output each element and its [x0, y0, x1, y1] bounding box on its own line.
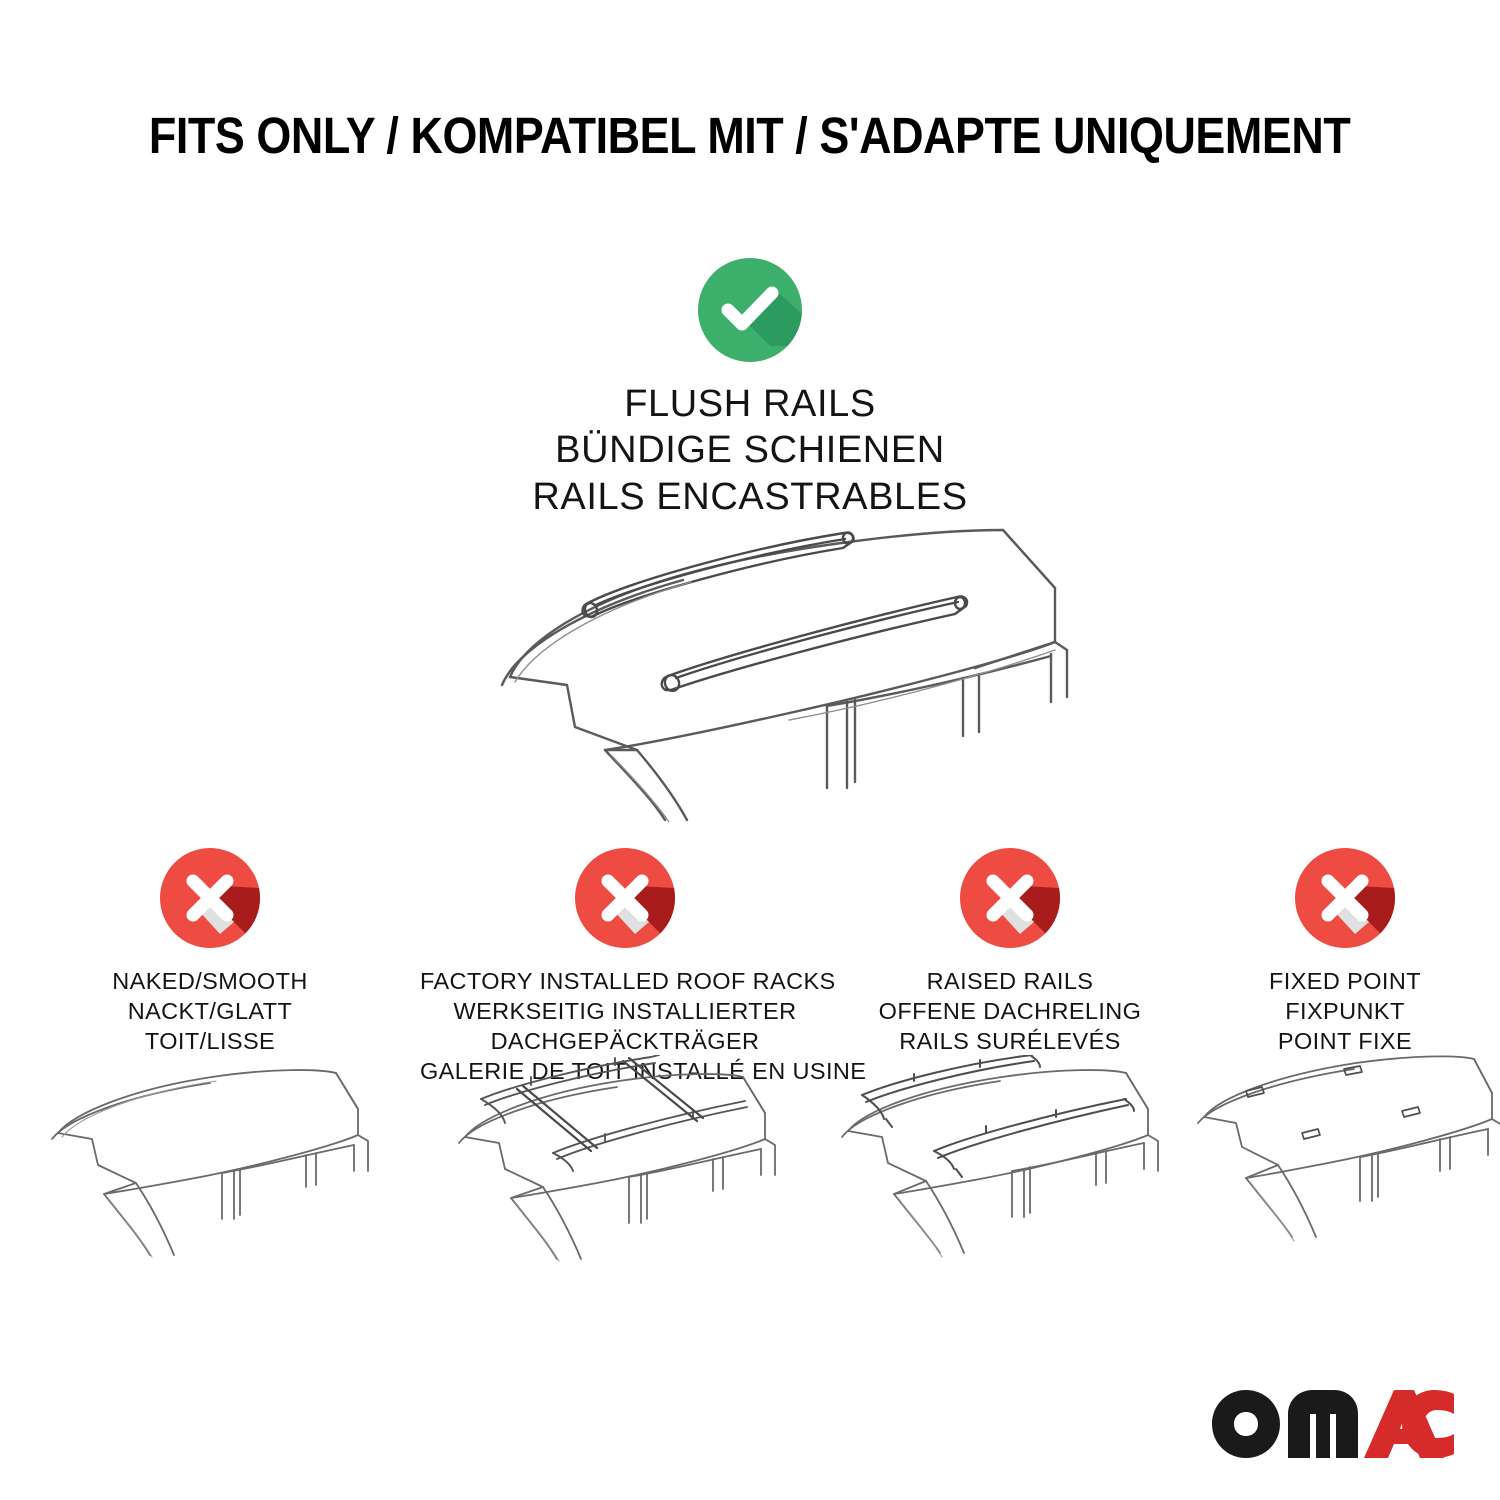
compatible-label-line-en: FLUSH RAILS: [0, 381, 1500, 427]
compatible-label-line-de: BÜNDIGE SCHIENEN: [0, 427, 1500, 473]
red-cross-circle-icon: [0, 848, 420, 956]
car-roof-with-factory-crossbars-illustration: [420, 1055, 830, 1275]
car-roof-with-flush-rails-illustration: [455, 492, 1075, 822]
option-label-line-de: OFFENE DACHRELING: [830, 996, 1190, 1026]
option-label-line-en: RAISED RAILS: [830, 966, 1190, 996]
option-label-line-de: FIXPUNKT: [1190, 996, 1500, 1026]
page-title: FITS ONLY / KOMPATIBEL MIT / S'ADAPTE UN…: [0, 106, 1500, 165]
compatible-section: FLUSH RAILS BÜNDIGE SCHIENEN RAILS ENCAS…: [0, 258, 1500, 520]
page-title-text: FITS ONLY / KOMPATIBEL MIT / S'ADAPTE UN…: [149, 106, 1350, 165]
option-label: RAISED RAILS OFFENE DACHRELING RAILS SUR…: [830, 966, 1190, 1056]
omac-logo: OMAC: [1208, 1386, 1458, 1458]
option-label-line-fr: TOIT/LISSE: [0, 1026, 420, 1056]
green-check-circle-icon: [0, 258, 1500, 367]
option-label: NAKED/SMOOTH NACKT/GLATT TOIT/LISSE: [0, 966, 420, 1056]
red-cross-circle-icon: [830, 848, 1190, 956]
incompatible-option-factory-roof-racks: FACTORY INSTALLED ROOF RACKS WERKSEITIG …: [420, 848, 830, 1086]
option-label-line-de-1: WERKSEITIG INSTALLIERTER: [420, 996, 830, 1026]
option-label-line-en: NAKED/SMOOTH: [0, 966, 420, 996]
option-label-line-fr: RAILS SURÉLEVÉS: [830, 1026, 1190, 1056]
car-roof-with-raised-rails-illustration: [830, 1055, 1190, 1275]
incompatible-option-fixed-point: FIXED POINT FIXPUNKT POINT FIXE: [1190, 848, 1500, 1086]
incompatible-option-naked-smooth: NAKED/SMOOTH NACKT/GLATT TOIT/LISSE: [0, 848, 420, 1086]
incompatible-option-raised-rails: RAISED RAILS OFFENE DACHRELING RAILS SUR…: [830, 848, 1190, 1086]
option-label-line-fr: POINT FIXE: [1190, 1026, 1500, 1056]
red-cross-circle-icon: [1190, 848, 1500, 956]
option-label-line-en: FACTORY INSTALLED ROOF RACKS: [420, 966, 830, 996]
fitment-infographic: FITS ONLY / KOMPATIBEL MIT / S'ADAPTE UN…: [0, 0, 1500, 1500]
option-label-line-de-2: DACHGEPÄCKTRÄGER: [420, 1026, 830, 1056]
option-label-line-en: FIXED POINT: [1190, 966, 1500, 996]
incompatible-options-row: NAKED/SMOOTH NACKT/GLATT TOIT/LISSE: [0, 848, 1500, 1086]
car-roof-bare-illustration: [0, 1055, 420, 1275]
option-label-line-de: NACKT/GLATT: [0, 996, 420, 1026]
option-label: FIXED POINT FIXPUNKT POINT FIXE: [1190, 966, 1500, 1056]
car-roof-fixed-point-illustration: [1190, 1055, 1500, 1275]
red-cross-circle-icon: [420, 848, 830, 956]
incompatible-illustrations-row: [0, 1055, 1500, 1275]
